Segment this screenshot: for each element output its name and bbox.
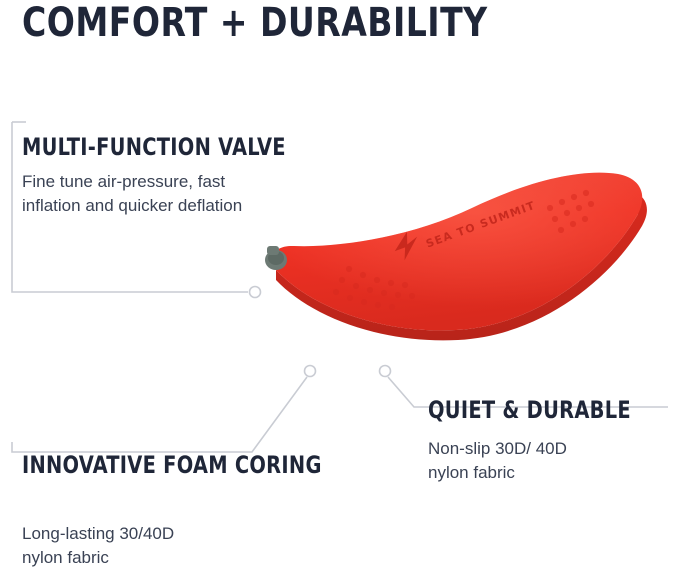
page-title: COMFORT + DURABILITY xyxy=(22,0,488,46)
callout-body-innovative-foam-coring: Long-lasting 30/40D nylon fabric xyxy=(22,522,282,570)
callout-body-quiet-and-durable: Non-slip 30D/ 40D nylon fabric xyxy=(428,437,668,485)
callout-title-quiet-and-durable: QUIET & DURABLE xyxy=(428,396,631,424)
callout-body-multi-function-valve: Fine tune air-pressure, fast inflation a… xyxy=(22,170,352,218)
callout-title-multi-function-valve: MULTI-FUNCTION VALVE xyxy=(22,133,286,161)
sleeping-mat-illustration: SEA TO SUMMIT xyxy=(250,130,670,370)
mat-svg: SEA TO SUMMIT xyxy=(250,130,670,370)
leader-line-foam xyxy=(12,377,307,452)
infographic-canvas: COMFORT + DURABILITY xyxy=(0,0,679,583)
callout-title-innovative-foam-coring: INNOVATIVE FOAM CORING xyxy=(22,450,322,480)
